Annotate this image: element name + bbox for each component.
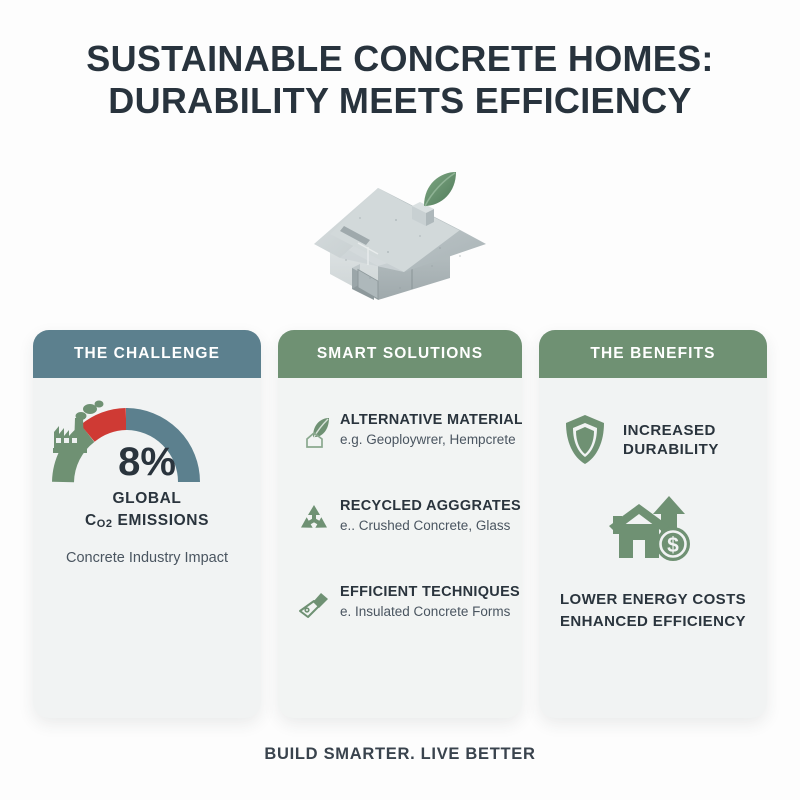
recycle-icon: [294, 500, 334, 540]
stat-percentage: 8%: [33, 442, 261, 482]
benefit-energy-icon-wrap: $: [539, 494, 767, 573]
infographic-page: Sustainable Concrete Homes: Durability M…: [0, 0, 800, 800]
solution-text: Efficient Techniques e. Insulated Concre…: [334, 584, 520, 619]
solution-description: e. Insulated Concrete Forms: [340, 604, 520, 619]
card-benefits-header: The Benefits: [539, 330, 767, 378]
solution-title: Efficient Techniques: [340, 584, 520, 601]
title-line-2: Durability Meets Efficiency: [0, 80, 800, 122]
leaf-stone-icon: [294, 414, 334, 454]
card-challenge-body: 8% Global Co2 Emissions Concrete Industr…: [33, 378, 261, 718]
list-item: Alternative Materials e.g. Geoploywrer, …: [278, 412, 522, 454]
card-benefits-body: Increased Durability: [539, 378, 767, 718]
solution-title: Recycled Agggrates: [340, 498, 521, 515]
stat-label-emissions: Co2 Emissions: [33, 510, 261, 533]
solution-text: Alternative Materials e.g. Geoploywrer, …: [334, 412, 522, 447]
shield-icon: [561, 412, 609, 468]
list-item: Efficient Techniques e. Insulated Concre…: [278, 584, 522, 626]
card-solutions-body: Alternative Materials e.g. Geoploywrer, …: [278, 378, 522, 718]
stat-label-global: Global: [33, 488, 261, 510]
solution-description: e.. Crushed Concrete, Glass: [340, 518, 521, 533]
solution-text: Recycled Agggrates e.. Crushed Concrete,…: [334, 498, 521, 533]
benefit-bottom-line-2: Enhanced Efficiency: [539, 611, 767, 633]
solutions-list: Alternative Materials e.g. Geoploywrer, …: [278, 378, 522, 626]
card-solutions: Smart Solutions Alternative Materials: [278, 330, 522, 718]
co2-subscript: o2: [97, 518, 113, 530]
svg-text:$: $: [667, 534, 679, 557]
benefit-bottom-line-1: Lower Energy Costs: [539, 589, 767, 611]
trowel-icon: [294, 586, 334, 626]
solution-title: Alternative Materials: [340, 412, 522, 429]
isometric-house-icon: [300, 148, 500, 308]
card-benefits: The Benefits Increased Durability: [539, 330, 767, 718]
card-challenge-header: The Challenge: [33, 330, 261, 378]
hero-illustration: [0, 148, 800, 313]
card-challenge: The Challenge: [33, 330, 261, 718]
stat-note: Concrete Industry Impact: [33, 550, 261, 566]
footer-tagline: Build Smarter. Live Better: [0, 745, 800, 764]
benefit-line-2: Durability: [623, 440, 719, 460]
list-item: Recycled Agggrates e.. Crushed Concrete,…: [278, 498, 522, 540]
co2-c: C: [85, 512, 97, 529]
card-solutions-header: Smart Solutions: [278, 330, 522, 378]
stat-label: Global Co2 Emissions: [33, 488, 261, 533]
cards-row: The Challenge: [33, 330, 767, 718]
benefit-line-1: Increased: [623, 421, 719, 441]
house-arrow-dollar-icon: $: [607, 494, 699, 568]
solution-description: e.g. Geoploywrer, Hempcrete: [340, 432, 522, 447]
benefit-energy-label: Lower Energy Costs Enhanced Efficiency: [539, 589, 767, 633]
title-line-1: Sustainable Concrete Homes:: [0, 38, 800, 80]
benefit-durability-label: Increased Durability: [609, 421, 719, 460]
emissions-word: Emissions: [113, 512, 209, 529]
benefit-durability: Increased Durability: [539, 378, 767, 468]
page-title: Sustainable Concrete Homes: Durability M…: [0, 38, 800, 122]
